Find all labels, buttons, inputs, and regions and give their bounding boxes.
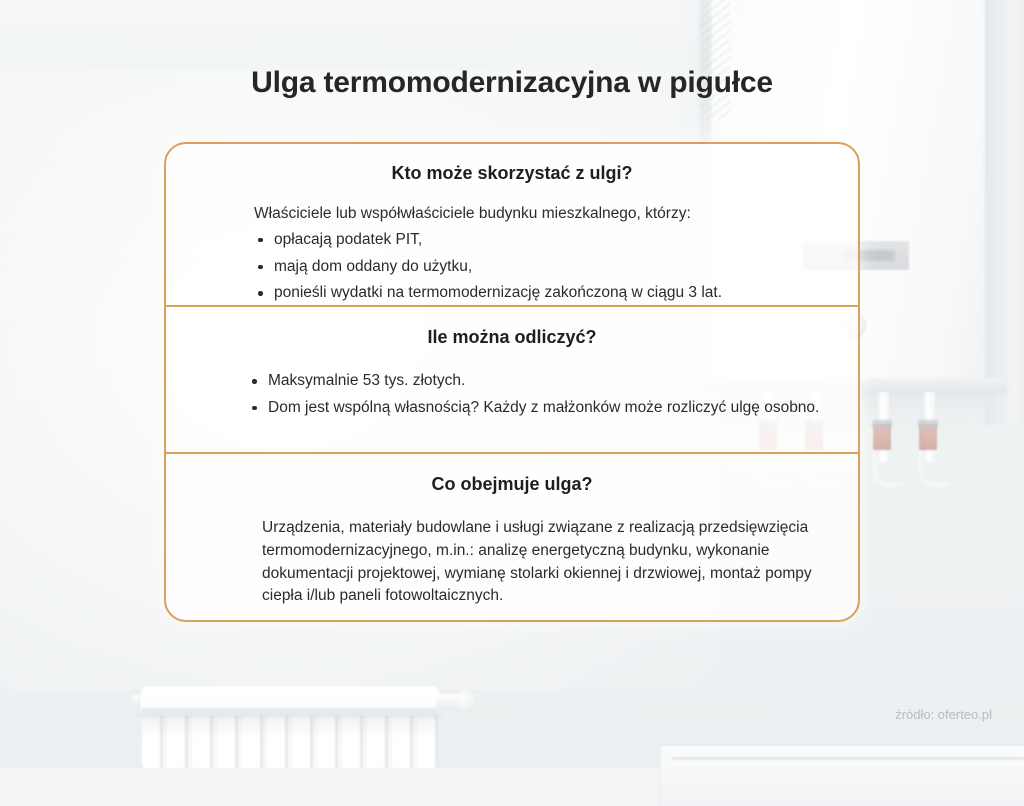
section-body: Urządzenia, materiały budowlane i usługi…: [190, 517, 834, 608]
list-item: Maksymalnie 53 tys. złotych.: [268, 370, 834, 393]
section-heading: Ile można odliczyć?: [190, 307, 834, 348]
section-body: Maksymalnie 53 tys. złotych. Dom jest ws…: [190, 370, 834, 420]
section-how-much: Ile można odliczyć? Maksymalnie 53 tys. …: [166, 305, 858, 452]
infographic: Ulga termomodernizacyjna w pigułce Kto m…: [0, 0, 1024, 768]
bullet-list: opłacają podatek PIT, mają dom oddany do…: [190, 229, 834, 305]
section-heading: Co obejmuje ulga?: [190, 454, 834, 495]
bullet-list: Maksymalnie 53 tys. złotych. Dom jest ws…: [190, 370, 834, 420]
list-item: mają dom oddany do użytku,: [274, 256, 834, 279]
section-intro-text: Właściciele lub współwłaściciele budynku…: [190, 203, 834, 226]
section-heading: Kto może skorzystać z ulgi?: [190, 144, 834, 184]
info-card: Kto może skorzystać z ulgi? Właściciele …: [164, 142, 860, 622]
section-who-can-use: Kto może skorzystać z ulgi? Właściciele …: [166, 144, 858, 305]
page-title: Ulga termomodernizacyjna w pigułce: [0, 66, 1024, 100]
source-attribution: źródło: oferteo.pl: [895, 707, 992, 722]
list-item: opłacają podatek PIT,: [274, 229, 834, 252]
section-body: Właściciele lub współwłaściciele budynku…: [190, 203, 834, 305]
section-what-is-covered: Co obejmuje ulga? Urządzenia, materiały …: [166, 452, 858, 620]
list-item: Dom jest wspólną własnością? Każdy z mał…: [268, 397, 834, 420]
section-paragraph: Urządzenia, materiały budowlane i usługi…: [190, 517, 834, 608]
list-item: ponieśli wydatki na termomodernizację za…: [274, 282, 834, 305]
